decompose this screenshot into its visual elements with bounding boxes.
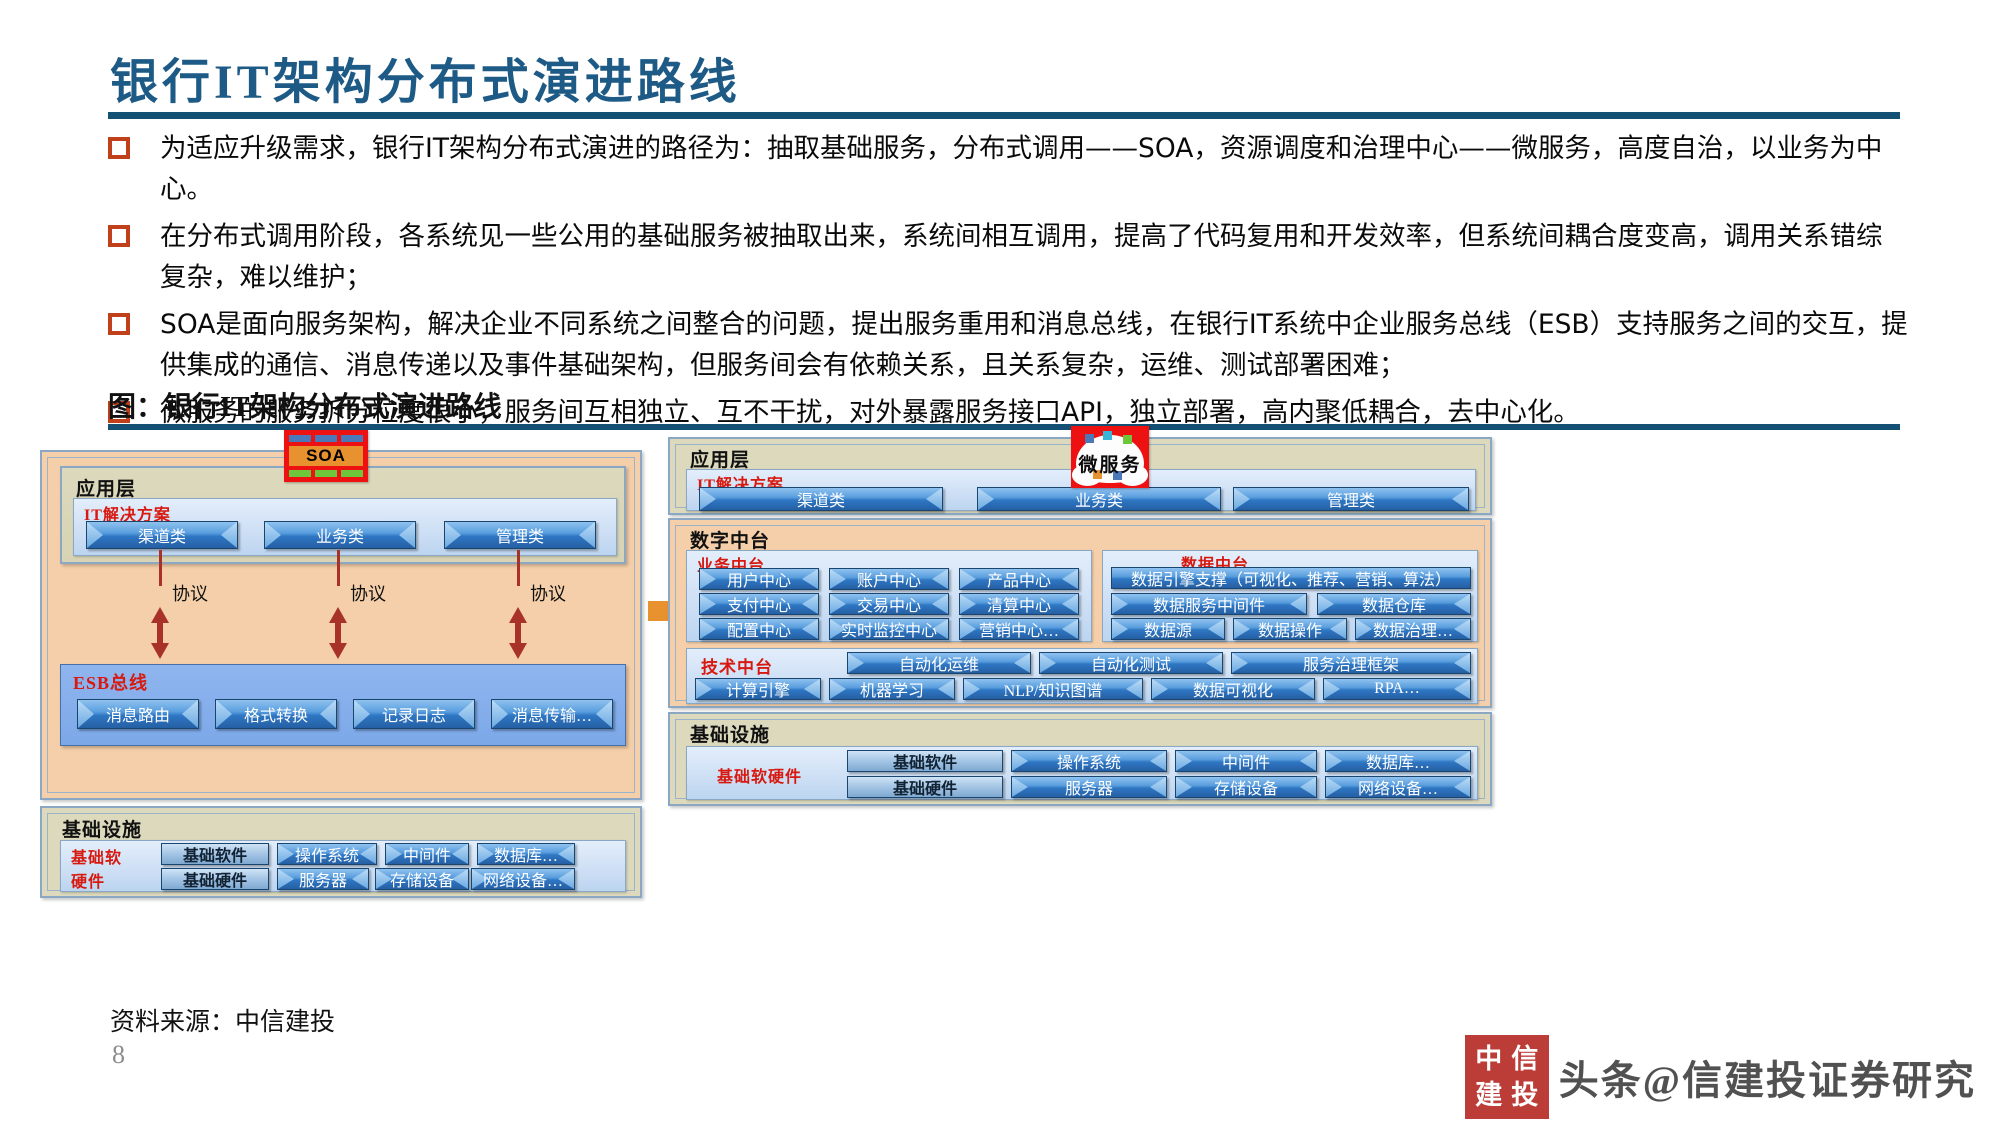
page-number: 8 — [112, 1040, 125, 1070]
soa-app-item-management[interactable]: 管理类 — [444, 521, 596, 549]
ms-infra-label: 基础设施 — [690, 720, 770, 747]
ms-infra-middleware[interactable]: 中间件 — [1175, 750, 1317, 772]
watermark: 中信 建投 头条@信建投证券研究 — [1465, 1035, 1976, 1119]
soa-double-arrow-2 — [327, 607, 349, 659]
ms-infra-sub-label: 基础软硬件 — [717, 763, 802, 787]
ms-tech-data-visualization[interactable]: 数据可视化 — [1151, 678, 1315, 700]
soa-app-layer-label: 应用层 — [76, 474, 136, 501]
page-title: 银行IT架构分布式演进路线 — [110, 42, 741, 112]
soa-protocol-label-3: 协议 — [530, 580, 566, 606]
microservice-badge-icon: 微服务 — [1071, 426, 1149, 488]
soa-badge-icon: SOA — [284, 430, 368, 482]
soa-connector-line-3 — [517, 550, 520, 586]
bullet-text: 在分布式调用阶段，各系统见一些公用的基础服务被抽取出来，系统间相互调用，提高了代… — [160, 216, 1908, 298]
ms-app-layer-label: 应用层 — [690, 445, 750, 472]
ms-tech-platform-box: 技术中台 自动化运维 自动化测试 服务治理框架 计算引擎 机器学习 NLP/知识… — [686, 648, 1478, 704]
list-item: SOA是面向服务架构，解决企业不同系统之间整合的问题，提出服务重用和消息总线，在… — [108, 304, 1908, 386]
soa-connector-line-2 — [337, 550, 340, 586]
ms-data-platform-box: 数据中台 数据引擎支撑（可视化、推荐、营销、算法） 数据服务中间件 数据仓库 数… — [1102, 550, 1478, 642]
ms-data-engine[interactable]: 数据引擎支撑（可视化、推荐、营销、算法） — [1111, 567, 1471, 589]
soa-infra-inner: 基础软 硬件 基础软件 操作系统 中间件 数据库… 基础硬件 服务器 存储设备 … — [60, 840, 626, 892]
ms-tech-automated-ops[interactable]: 自动化运维 — [847, 652, 1031, 674]
ms-business-payment-center[interactable]: 支付中心 — [699, 593, 819, 615]
soa-badge-label: SOA — [289, 446, 363, 466]
soa-panel: 应用层 IT解决方案 渠道类 业务类 管理类 协议 协议 — [40, 450, 642, 800]
ms-digital-platform-label: 数字中台 — [690, 526, 770, 553]
bullet-marker-icon — [108, 313, 130, 335]
soa-connector-line-1 — [159, 550, 162, 586]
ms-infra-basic-hardware[interactable]: 基础硬件 — [847, 776, 1003, 798]
soa-infra-database[interactable]: 数据库… — [477, 843, 575, 865]
soa-double-arrow-3 — [507, 607, 529, 659]
soa-infra-sub-label-line2: 硬件 — [71, 868, 105, 892]
ms-infra-storage[interactable]: 存储设备 — [1175, 776, 1317, 798]
ms-data-governance[interactable]: 数据治理… — [1355, 618, 1471, 640]
slide-root: 银行IT架构分布式演进路线 为适应升级需求，银行IT架构分布式演进的路径为：抽取… — [0, 0, 2000, 1125]
ms-data-service-middleware[interactable]: 数据服务中间件 — [1111, 593, 1307, 615]
ms-tech-platform-label: 技术中台 — [701, 653, 773, 678]
soa-esb-item-format[interactable]: 格式转换 — [215, 699, 337, 729]
ms-data-source[interactable]: 数据源 — [1111, 618, 1225, 640]
bullet-text: 为适应升级需求，银行IT架构分布式演进的路径为：抽取基础服务，分布式调用——SO… — [160, 128, 1908, 210]
list-item: 在分布式调用阶段，各系统见一些公用的基础服务被抽取出来，系统间相互调用，提高了代… — [108, 216, 1908, 298]
soa-esb-item-logging[interactable]: 记录日志 — [353, 699, 475, 729]
figure-divider — [108, 424, 1900, 430]
ms-business-clearing-center[interactable]: 清算中心 — [959, 593, 1079, 615]
bullet-marker-icon — [108, 137, 130, 159]
ms-tech-rpa[interactable]: RPA… — [1323, 678, 1471, 700]
soa-esb-box: ESB总线 消息路由 格式转换 记录日志 消息传输… — [60, 664, 626, 746]
ms-infra-database[interactable]: 数据库… — [1325, 750, 1471, 772]
ms-data-operation[interactable]: 数据操作 — [1233, 618, 1347, 640]
title-divider — [108, 112, 1900, 119]
ms-business-monitoring-center[interactable]: 实时监控中心 — [829, 618, 949, 640]
watermark-text: 头条@信建投证券研究 — [1559, 1048, 1976, 1106]
soa-esb-item-routing[interactable]: 消息路由 — [77, 699, 199, 729]
ms-business-marketing-center[interactable]: 营销中心… — [959, 618, 1079, 640]
microservice-badge-label: 微服务 — [1071, 450, 1149, 477]
figure-caption: 图：银行IT架构分布式演进路线 — [108, 385, 502, 425]
source-note: 资料来源：中信建投 — [110, 1002, 335, 1038]
ms-tech-service-governance[interactable]: 服务治理框架 — [1231, 652, 1471, 674]
soa-it-solution-box: IT解决方案 渠道类 业务类 管理类 — [73, 498, 617, 556]
ms-digital-platform-panel: 数字中台 业务中台 用户中心 账户中心 产品中心 支付中心 交易中心 清算中心 … — [668, 518, 1492, 708]
ms-business-platform-box: 业务中台 用户中心 账户中心 产品中心 支付中心 交易中心 清算中心 配置中心 … — [686, 550, 1092, 642]
soa-protocol-label-1: 协议 — [172, 580, 208, 606]
bullet-text: SOA是面向服务架构，解决企业不同系统之间整合的问题，提出服务重用和消息总线，在… — [160, 304, 1908, 386]
soa-infra-basic-hardware[interactable]: 基础硬件 — [161, 868, 269, 890]
watermark-seal-icon: 中信 建投 — [1465, 1035, 1549, 1119]
ms-tech-automated-test[interactable]: 自动化测试 — [1039, 652, 1223, 674]
soa-infra-storage[interactable]: 存储设备 — [375, 868, 469, 890]
soa-infra-middleware[interactable]: 中间件 — [385, 843, 469, 865]
soa-app-item-channel[interactable]: 渠道类 — [86, 521, 238, 549]
soa-infra-panel: 基础设施 基础软 硬件 基础软件 操作系统 中间件 数据库… 基础硬件 服务器 … — [40, 806, 642, 898]
soa-infra-os[interactable]: 操作系统 — [277, 843, 377, 865]
ms-infra-server[interactable]: 服务器 — [1011, 776, 1167, 798]
ms-app-item-business[interactable]: 业务类 — [977, 487, 1221, 511]
ms-tech-machine-learning[interactable]: 机器学习 — [829, 678, 955, 700]
soa-infra-basic-software[interactable]: 基础软件 — [161, 843, 269, 865]
soa-app-item-business[interactable]: 业务类 — [264, 521, 416, 549]
ms-business-config-center[interactable]: 配置中心 — [699, 618, 819, 640]
ms-app-item-channel[interactable]: 渠道类 — [699, 487, 943, 511]
soa-esb-label: ESB总线 — [73, 669, 148, 695]
ms-business-account-center[interactable]: 账户中心 — [829, 568, 949, 590]
soa-infra-server[interactable]: 服务器 — [277, 868, 369, 890]
ms-infra-panel: 基础设施 基础软硬件 基础软件 操作系统 中间件 数据库… 基础硬件 服务器 存… — [668, 712, 1492, 806]
ms-infra-inner: 基础软硬件 基础软件 操作系统 中间件 数据库… 基础硬件 服务器 存储设备 网… — [686, 746, 1478, 800]
ms-app-item-management[interactable]: 管理类 — [1233, 487, 1469, 511]
ms-infra-os[interactable]: 操作系统 — [1011, 750, 1167, 772]
bullet-marker-icon — [108, 225, 130, 247]
soa-infra-label: 基础设施 — [62, 815, 142, 842]
ms-business-product-center[interactable]: 产品中心 — [959, 568, 1079, 590]
list-item: 为适应升级需求，银行IT架构分布式演进的路径为：抽取基础服务，分布式调用——SO… — [108, 128, 1908, 210]
soa-protocol-label-2: 协议 — [350, 580, 386, 606]
ms-infra-network[interactable]: 网络设备… — [1325, 776, 1471, 798]
ms-business-transaction-center[interactable]: 交易中心 — [829, 593, 949, 615]
ms-business-user-center[interactable]: 用户中心 — [699, 568, 819, 590]
soa-infra-network[interactable]: 网络设备… — [471, 868, 575, 890]
ms-data-warehouse[interactable]: 数据仓库 — [1317, 593, 1471, 615]
soa-double-arrow-1 — [149, 607, 171, 659]
ms-infra-basic-software[interactable]: 基础软件 — [847, 750, 1003, 772]
soa-esb-item-messaging[interactable]: 消息传输… — [491, 699, 613, 729]
ms-tech-nlp-knowledge-graph[interactable]: NLP/知识图谱 — [963, 678, 1143, 700]
ms-tech-compute-engine[interactable]: 计算引擎 — [695, 678, 821, 700]
soa-infra-sub-label-line1: 基础软 — [71, 844, 122, 868]
